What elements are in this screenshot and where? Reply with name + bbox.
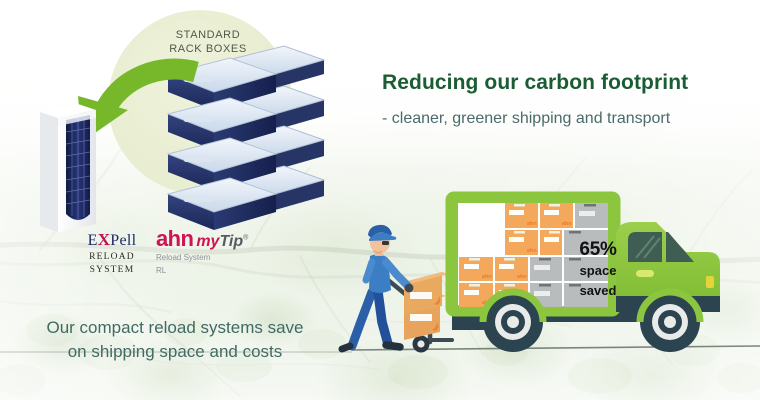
truck-wheel-front	[640, 292, 700, 352]
delivery-truck-illustration: ahn ahn	[0, 0, 760, 400]
truck-wheel-rear	[483, 292, 543, 352]
space-saved-word-1: space	[565, 261, 631, 281]
svg-text:ahn: ahn	[527, 248, 537, 254]
poster-canvas: STANDARD RACK BOXES Reducing our carbon …	[0, 0, 760, 400]
svg-text:ahn: ahn	[482, 274, 492, 280]
space-saved-percent: 65%	[565, 239, 631, 261]
space-saved-callout: 65% space saved	[565, 239, 631, 301]
svg-text:ahn: ahn	[527, 221, 537, 227]
space-saved-word-2: saved	[565, 281, 631, 301]
svg-text:ahn: ahn	[517, 274, 527, 280]
svg-text:ahn: ahn	[562, 221, 572, 227]
